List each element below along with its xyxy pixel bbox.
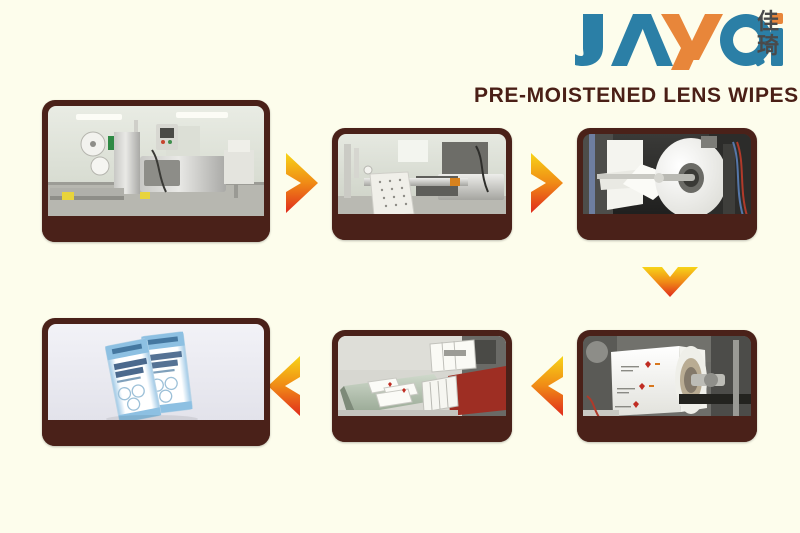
page-title: PRE-MOISTENED LENS WIPES — [474, 84, 799, 108]
flow-step-4-photo — [583, 336, 751, 424]
arrow-step1-to-step2 — [284, 152, 320, 214]
arrow-step3-to-step4 — [641, 265, 699, 299]
flow-step-1-photo — [48, 106, 264, 222]
flow-step-3-frame-band — [577, 214, 757, 240]
flow-step-3-photo — [583, 134, 751, 222]
flow-step-4-card — [577, 330, 757, 442]
flow-step-2-photo — [338, 134, 506, 222]
flow-step-3-card — [577, 128, 757, 240]
arrow-step4-to-step5 — [529, 355, 565, 417]
brand-chinese-char-1: 佳 — [757, 11, 779, 35]
flow-step-5-frame-band — [332, 416, 512, 442]
flow-step-6-photo — [48, 324, 264, 424]
flow-step-2-card — [332, 128, 512, 240]
flow-step-5-card — [332, 330, 512, 442]
arrow-step5-to-step6 — [266, 355, 302, 417]
brand-chinese-char-2: 琦 — [757, 35, 779, 59]
flow-step-1-card — [42, 100, 270, 242]
brand-chinese-name: 佳 琦 — [744, 6, 792, 64]
flow-step-6-card — [42, 318, 270, 446]
flow-step-4-frame-band — [577, 416, 757, 442]
infographic-page: 佳 琦 PRE-MOISTENED LENS WIPES — [0, 0, 800, 533]
flow-step-2-frame-band — [332, 214, 512, 240]
arrow-step2-to-step3 — [529, 152, 565, 214]
flow-step-1-frame-band — [42, 216, 270, 242]
flow-step-5-photo — [338, 336, 506, 424]
flow-step-6-frame-band — [42, 420, 270, 446]
